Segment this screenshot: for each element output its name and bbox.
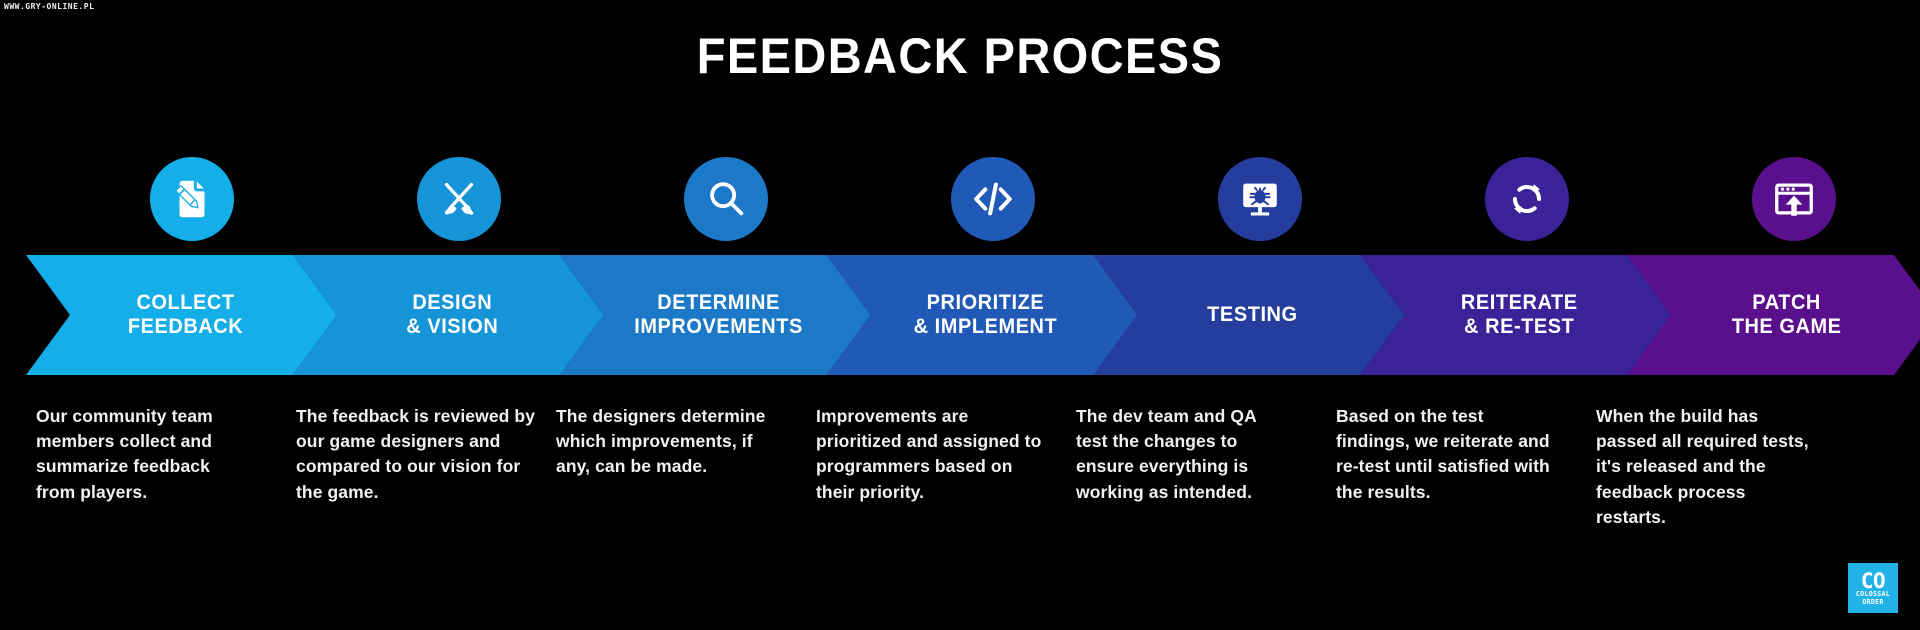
stage-chevron[interactable]: PRIORITIZE & IMPLEMENT (827, 255, 1138, 375)
stage-icon-slot (293, 157, 604, 255)
brush-pen-icon (417, 157, 501, 241)
stage-chevron[interactable]: COLLECT FEEDBACK (26, 255, 337, 375)
stage-chevron[interactable]: DETERMINE IMPROVEMENTS (560, 255, 871, 375)
stage-description: Our community team members collect and s… (36, 404, 254, 505)
colossal-order-logo: CO COLOSSAL ORDER (1848, 563, 1898, 613)
stage-icon-slot (26, 157, 337, 255)
stage-chevron[interactable]: DESIGN & VISION (293, 255, 604, 375)
process-stage[interactable]: DETERMINE IMPROVEMENTS (560, 157, 871, 375)
stage-icon-slot (560, 157, 871, 255)
logo-line-1: COLOSSAL (1856, 590, 1890, 598)
stage-description: Improvements are prioritized and assigne… (816, 404, 1048, 505)
stage-icon-slot (1093, 157, 1404, 255)
page-title: FEEDBACK PROCESS (58, 27, 1863, 85)
logo-mark: CO (1861, 572, 1885, 590)
stage-chevron[interactable]: TESTING (1093, 255, 1404, 375)
logo-line-2: ORDER (1862, 598, 1883, 606)
document-pencil-icon (150, 157, 234, 241)
stage-icon-slot (1360, 157, 1671, 255)
stage-description: The feedback is reviewed by our game des… (296, 404, 536, 505)
stage-label: COLLECT FEEDBACK (103, 291, 260, 338)
description-row: Our community team members collect and s… (0, 404, 1920, 564)
process-stage[interactable]: PRIORITIZE & IMPLEMENT (827, 157, 1138, 375)
process-stage[interactable]: COLLECT FEEDBACK (26, 157, 337, 375)
stage-description: When the build has passed all required t… (1596, 404, 1811, 530)
stage-description: The dev team and QA test the changes to … (1076, 404, 1291, 505)
watermark-text: WWW.GRY-ONLINE.PL (4, 2, 94, 11)
process-stage[interactable]: REITERATE & RE-TEST (1360, 157, 1671, 375)
stage-description: The designers determine which improvemen… (556, 404, 771, 480)
stage-icon-slot (827, 157, 1138, 255)
infographic-canvas: WWW.GRY-ONLINE.PL FEEDBACK PROCESS COLLE… (0, 0, 1920, 630)
code-brackets-icon (951, 157, 1035, 241)
stage-label: PRIORITIZE & IMPLEMENT (889, 291, 1075, 338)
process-flow: COLLECT FEEDBACKDESIGN & VISIONDETERMINE… (0, 157, 1920, 375)
stage-label: DETERMINE IMPROVEMENTS (610, 291, 820, 338)
stage-label: REITERATE & RE-TEST (1436, 291, 1595, 338)
stage-label: PATCH THE GAME (1707, 291, 1859, 338)
stage-label: TESTING (1183, 303, 1315, 327)
process-stage[interactable]: DESIGN & VISION (293, 157, 604, 375)
stage-chevron[interactable]: REITERATE & RE-TEST (1360, 255, 1671, 375)
stage-label: DESIGN & VISION (381, 291, 515, 338)
process-stage[interactable]: TESTING (1093, 157, 1404, 375)
refresh-cycle-icon (1485, 157, 1569, 241)
window-upload-icon (1752, 157, 1836, 241)
magnifier-icon (684, 157, 768, 241)
stage-description: Based on the test findings, we reiterate… (1336, 404, 1551, 505)
monitor-bug-icon (1218, 157, 1302, 241)
